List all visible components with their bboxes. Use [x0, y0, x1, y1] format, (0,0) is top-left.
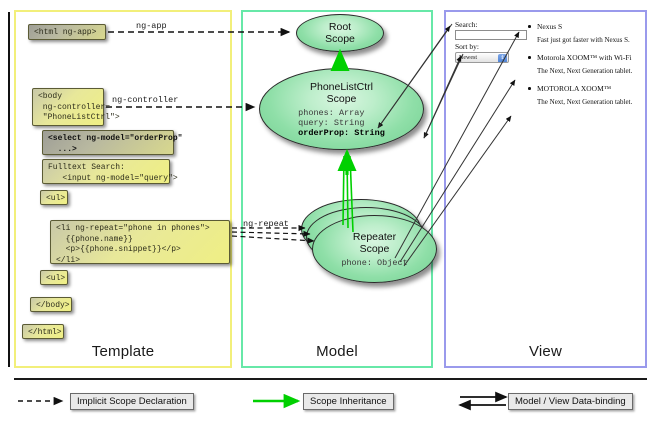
code-box-select: <select ng-model="orderProp" ...>: [42, 130, 174, 155]
phone-snippet: Fast just got faster with Nexus S.: [528, 36, 643, 44]
code-box-body-close: </body>: [30, 297, 72, 312]
prop-phones: phones: Array: [298, 108, 364, 118]
list-item: Motorola XOOM™ with Wi-Fi The Next, Next…: [528, 53, 643, 75]
edge-label-ng-app: ng-app: [136, 21, 167, 31]
list-item: Nexus S Fast just got faster with Nexus …: [528, 22, 643, 44]
bullet-icon: [528, 87, 531, 90]
phone-name: MOTOROLA XOOM™: [528, 84, 643, 93]
view-search-label: Search:: [455, 20, 478, 29]
prop-query: query: String: [298, 118, 364, 128]
scope-phonelistctrl-props: phones: Arrayquery: StringorderProp: Str…: [298, 108, 385, 138]
scope-root: RootScope: [296, 14, 384, 52]
panel-model: Model: [241, 10, 433, 368]
legend-label: Implicit Scope Declaration: [70, 393, 194, 410]
scope-repeater-props: phone: Object: [341, 258, 407, 268]
phone-name: Nexus S: [528, 22, 643, 31]
diagram-root: Template <html ng-app> <body ng-controll…: [0, 0, 661, 425]
code-box-html-open: <html ng-app>: [28, 24, 106, 40]
list-item: MOTOROLA XOOM™ The Next, Next Generation…: [528, 84, 643, 106]
code-box-html-close: </html>: [22, 324, 64, 339]
bullet-icon: [528, 25, 531, 28]
view-search-input[interactable]: [455, 30, 527, 40]
phone-snippet: The Next, Next Generation tablet.: [528, 98, 643, 106]
scope-repeater-title: RepeaterScope: [353, 231, 396, 255]
chevron-updown-icon: ⇕: [498, 54, 507, 63]
edge-label-ng-controller: ng-controller: [112, 95, 178, 105]
scope-phonelistctrl-title: PhoneListCtrlScope: [310, 81, 373, 105]
legend-label: Model / View Data-binding: [508, 393, 633, 410]
code-box-ul-open: <ul>: [40, 190, 68, 205]
panel-view: Search: Sort by: Newest ⇕ Nexus S Fast j…: [444, 10, 647, 368]
panel-template: Template: [14, 10, 232, 368]
scope-root-title: RootScope: [325, 21, 355, 45]
bullet-icon: [528, 56, 531, 59]
edge-label-ng-repeat: ng-repeat: [243, 219, 289, 229]
scope-phonelistctrl: PhoneListCtrlScope phones: Arrayquery: S…: [259, 68, 424, 150]
view-phone-list: Nexus S Fast just got faster with Nexus …: [528, 22, 643, 115]
panel-model-label: Model: [243, 343, 431, 360]
phone-name: Motorola XOOM™ with Wi-Fi: [528, 53, 643, 62]
panel-view-label: View: [446, 343, 645, 360]
code-box-ul-close: <ul>: [40, 270, 68, 285]
view-sort-selected-value: Newest: [459, 55, 477, 61]
phone-snippet: The Next, Next Generation tablet.: [528, 67, 643, 75]
view-browser-mock: Search: Sort by: Newest ⇕ Nexus S Fast j…: [446, 12, 645, 366]
prop-orderprop: orderProp: String: [298, 128, 385, 138]
view-sort-select[interactable]: Newest ⇕: [455, 52, 509, 63]
code-box-input: Fulltext Search: <input ng-model="query"…: [42, 159, 170, 184]
left-edge-rule: [8, 12, 10, 367]
scope-repeater: RepeaterScope phone: Object: [312, 215, 437, 283]
panel-template-label: Template: [16, 343, 230, 360]
legend-divider: [14, 378, 647, 380]
legend-label: Scope Inheritance: [303, 393, 394, 410]
view-sort-label: Sort by:: [455, 42, 479, 51]
code-box-body-open: <body ng-controller= "PhoneListCtrl">: [32, 88, 104, 126]
code-box-li-repeat: <li ng-repeat="phone in phones"> {{phone…: [50, 220, 230, 264]
